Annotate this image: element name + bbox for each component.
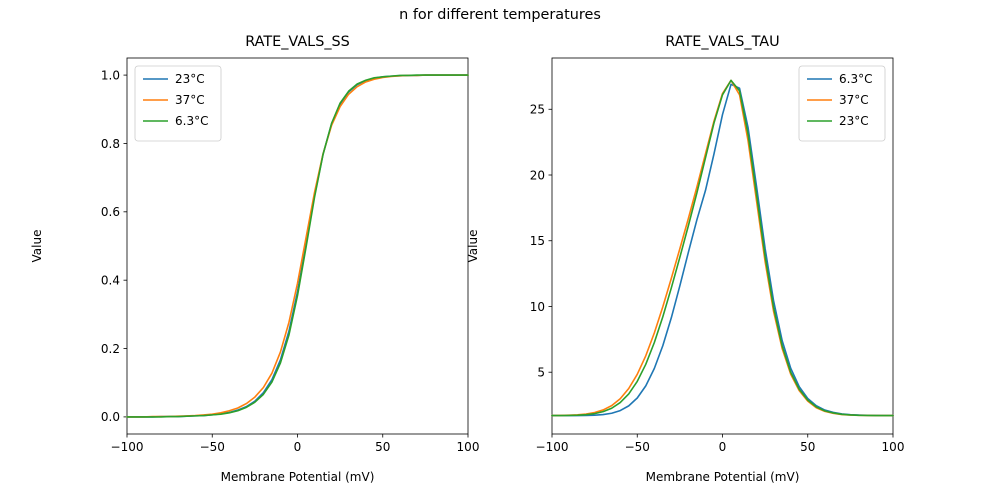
y-tick-label-left: 0.8 xyxy=(101,137,120,151)
x-tick-label-left: 100 xyxy=(457,440,480,454)
y-tick-label-right: 25 xyxy=(530,103,545,117)
matplotlib-figure: n for different temperatures RATE_VALS_S… xyxy=(0,0,1000,500)
x-tick-label-left: 0 xyxy=(294,440,302,454)
x-tick-label-right: 50 xyxy=(800,440,815,454)
legend-label-right-2: 23°C xyxy=(839,114,869,128)
y-tick-label-right: 20 xyxy=(530,168,545,182)
x-tick-label-left: −100 xyxy=(111,440,144,454)
legend-label-right-0: 6.3°C xyxy=(839,72,872,86)
x-tick-label-right: −50 xyxy=(625,440,650,454)
y-tick-label-left: 0.6 xyxy=(101,205,120,219)
legend-right[interactable]: 6.3°C37°C23°C xyxy=(799,66,885,141)
y-tick-label-left: 0.0 xyxy=(101,410,120,424)
x-tick-label-right: 100 xyxy=(882,440,905,454)
x-tick-label-right: 0 xyxy=(719,440,727,454)
y-axis-label-left: Value xyxy=(30,186,44,306)
legend-label-left-0: 23°C xyxy=(175,72,205,86)
y-tick-label-left: 1.0 xyxy=(101,68,120,82)
y-tick-label-right: 10 xyxy=(530,300,545,314)
legend-label-left-1: 37°C xyxy=(175,93,205,107)
y-tick-label-left: 0.2 xyxy=(101,342,120,356)
subplot-title-right: RATE_VALS_TAU xyxy=(552,34,893,50)
x-axis-label-left: Membrane Potential (mV) xyxy=(127,470,468,484)
x-axis-label-right: Membrane Potential (mV) xyxy=(552,470,893,484)
legend-label-left-2: 6.3°C xyxy=(175,114,208,128)
y-tick-label-right: 15 xyxy=(530,234,545,248)
plot-canvas: −100−500501000.00.20.40.60.81.023°C37°C6… xyxy=(0,0,1000,500)
y-tick-label-right: 5 xyxy=(537,366,545,380)
subplot-title-left: RATE_VALS_SS xyxy=(127,34,468,50)
y-tick-label-left: 0.4 xyxy=(101,273,120,287)
x-tick-label-left: 50 xyxy=(375,440,390,454)
figure-suptitle: n for different temperatures xyxy=(0,7,1000,23)
legend-left[interactable]: 23°C37°C6.3°C xyxy=(135,66,221,141)
axes-left: −100−500501000.00.20.40.60.81.023°C37°C6… xyxy=(101,58,480,454)
x-tick-label-right: −100 xyxy=(536,440,569,454)
legend-label-right-1: 37°C xyxy=(839,93,869,107)
axes-right: −100−500501005101520256.3°C37°C23°C xyxy=(530,58,905,454)
x-tick-label-left: −50 xyxy=(200,440,225,454)
y-axis-label-right: Value xyxy=(466,186,480,306)
